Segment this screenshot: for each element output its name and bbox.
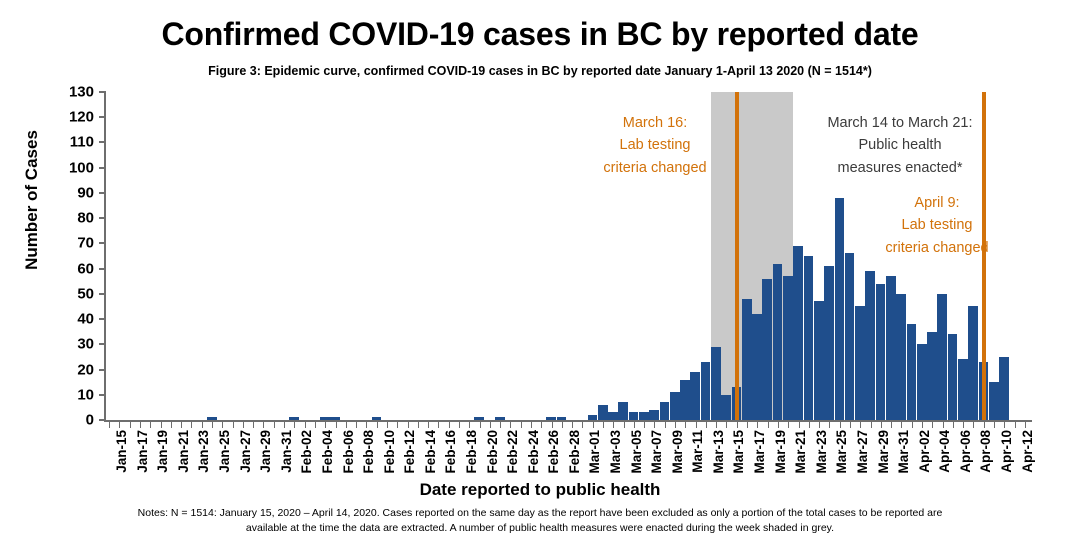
- x-tick-label: Mar-31: [896, 430, 911, 474]
- bar: [762, 279, 772, 420]
- x-tick-mark: [510, 422, 511, 428]
- bar: [814, 301, 824, 420]
- bar: [783, 276, 793, 420]
- x-tick-label: Mar-15: [731, 430, 746, 474]
- x-tick-label: Feb-22: [505, 430, 520, 474]
- x-tick-mark: [799, 422, 800, 428]
- x-tick-mark: [377, 422, 378, 428]
- x-tick-label: Feb-18: [464, 430, 479, 474]
- x-tick-mark: [665, 422, 666, 428]
- x-tick-label: Feb-16: [443, 430, 458, 474]
- x-tick-mark: [675, 422, 676, 428]
- x-tick-mark: [1025, 422, 1026, 428]
- x-tick-mark: [552, 422, 553, 428]
- y-tick-label: 90: [77, 184, 94, 201]
- x-tick-mark: [757, 422, 758, 428]
- x-tick-label: Mar-11: [690, 430, 705, 473]
- x-tick-mark: [418, 422, 419, 428]
- x-tick-mark: [284, 422, 285, 428]
- x-tick-label: Feb-26: [546, 430, 561, 474]
- bar: [958, 359, 968, 420]
- bar: [824, 266, 834, 420]
- x-tick-mark: [541, 422, 542, 428]
- x-tick-mark: [387, 422, 388, 428]
- y-tick-label: 70: [77, 235, 94, 252]
- y-tick-label: 110: [70, 134, 94, 151]
- x-tick-mark: [634, 422, 635, 428]
- x-tick-mark: [521, 422, 522, 428]
- bar: [680, 380, 690, 420]
- x-tick-mark: [706, 422, 707, 428]
- x-tick-mark: [243, 422, 244, 428]
- bar: [865, 271, 875, 420]
- x-tick-label: Jan-21: [176, 430, 191, 473]
- x-tick-mark: [840, 422, 841, 428]
- x-tick-label: Jan-19: [155, 430, 170, 473]
- x-tick-mark: [161, 422, 162, 428]
- bar: [989, 382, 999, 420]
- x-tick-mark: [819, 422, 820, 428]
- x-tick-label: Feb-10: [382, 430, 397, 474]
- bar: [608, 412, 618, 420]
- x-tick-mark: [181, 422, 182, 428]
- x-tick-label: Mar-17: [752, 430, 767, 474]
- bar: [660, 402, 670, 420]
- y-tick-label: 80: [77, 210, 94, 227]
- x-tick-mark: [109, 422, 110, 428]
- bar: [896, 294, 906, 420]
- x-tick-mark: [716, 422, 717, 428]
- x-tick-mark: [582, 422, 583, 428]
- bar: [629, 412, 639, 420]
- bar: [721, 395, 731, 420]
- x-tick-mark: [726, 422, 727, 428]
- x-tick-mark: [984, 422, 985, 428]
- y-tick-label: 40: [77, 311, 94, 328]
- x-tick-mark: [336, 422, 337, 428]
- x-tick-mark: [346, 422, 347, 428]
- x-tick-mark: [901, 422, 902, 428]
- x-tick-label: Mar-21: [793, 430, 808, 474]
- x-tick-mark: [490, 422, 491, 428]
- x-tick-mark: [613, 422, 614, 428]
- x-tick-mark: [222, 422, 223, 428]
- x-tick-label: Mar-25: [834, 430, 849, 474]
- page-title: Confirmed COVID-19 cases in BC by report…: [0, 16, 1080, 53]
- x-tick-mark: [366, 422, 367, 428]
- x-tick-mark: [469, 422, 470, 428]
- y-tick-label: 20: [77, 361, 94, 378]
- x-tick-label: Jan-29: [258, 430, 273, 473]
- bar: [917, 344, 927, 420]
- annotation-april9: April 9: Lab testing criteria changed: [842, 192, 1032, 259]
- x-tick-mark: [1004, 422, 1005, 428]
- bar: [927, 332, 937, 420]
- bar: [495, 417, 505, 420]
- bar: [701, 362, 711, 420]
- bar: [690, 372, 700, 420]
- bar: [711, 347, 721, 420]
- x-tick-mark: [233, 422, 234, 428]
- bar: [948, 334, 958, 420]
- x-tick-mark: [171, 422, 172, 428]
- x-tick-mark: [150, 422, 151, 428]
- bar: [649, 410, 659, 420]
- x-tick-label: Mar-07: [649, 430, 664, 474]
- x-tick-label: Apr-12: [1020, 430, 1035, 473]
- bar: [289, 417, 299, 420]
- bar: [330, 417, 340, 420]
- x-tick-mark: [881, 422, 882, 428]
- x-tick-mark: [912, 422, 913, 428]
- bar: [999, 357, 1009, 420]
- y-axis: Number of Cases 010203040506070809010011…: [0, 0, 104, 430]
- x-tick-mark: [809, 422, 810, 428]
- x-tick-label: Apr-10: [999, 430, 1014, 473]
- x-tick-mark: [119, 422, 120, 428]
- x-tick-label: Mar-05: [629, 430, 644, 474]
- x-tick-label: Jan-27: [238, 430, 253, 473]
- bar: [618, 402, 628, 420]
- x-tick-label: Apr-02: [917, 430, 932, 473]
- bar: [588, 415, 598, 420]
- x-tick-mark: [294, 422, 295, 428]
- bar: [907, 324, 917, 420]
- x-tick-label: Feb-08: [361, 430, 376, 474]
- bar: [372, 417, 382, 420]
- x-tick-mark: [953, 422, 954, 428]
- bar: [320, 417, 330, 420]
- x-tick-label: Feb-04: [320, 430, 335, 474]
- x-tick-label: Jan-23: [196, 430, 211, 473]
- y-axis-title: Number of Cases: [22, 50, 42, 350]
- bar: [557, 417, 567, 420]
- x-tick-mark: [654, 422, 655, 428]
- x-tick-mark: [449, 422, 450, 428]
- x-tick-mark: [191, 422, 192, 428]
- x-tick-mark: [1015, 422, 1016, 428]
- x-tick-label: Mar-27: [855, 430, 870, 474]
- x-tick-mark: [922, 422, 923, 428]
- figure-caption: Figure 3: Epidemic curve, confirmed COVI…: [0, 64, 1080, 78]
- x-tick-label: Jan-25: [217, 430, 232, 473]
- x-tick-mark: [274, 422, 275, 428]
- bar: [845, 253, 855, 420]
- x-tick-mark: [891, 422, 892, 428]
- x-tick-label: Feb-20: [485, 430, 500, 474]
- x-tick-mark: [778, 422, 779, 428]
- x-tick-mark: [500, 422, 501, 428]
- x-tick-mark: [994, 422, 995, 428]
- y-tick-label: 10: [77, 386, 94, 403]
- bar: [937, 294, 947, 420]
- bar: [876, 284, 886, 420]
- x-tick-label: Feb-12: [402, 430, 417, 474]
- x-tick-label: Jan-17: [135, 430, 150, 473]
- bar: [773, 264, 783, 420]
- x-tick-mark: [685, 422, 686, 428]
- x-tick-label: Apr-04: [937, 430, 952, 473]
- x-tick-mark: [696, 422, 697, 428]
- x-tick-label: Feb-06: [341, 430, 356, 474]
- x-tick-label: Feb-02: [299, 430, 314, 474]
- bar: [546, 417, 556, 420]
- x-tick-mark: [253, 422, 254, 428]
- x-tick-label: Feb-24: [526, 430, 541, 474]
- x-tick-mark: [428, 422, 429, 428]
- x-tick-label: Apr-06: [958, 430, 973, 473]
- bar: [598, 405, 608, 420]
- y-tick-label: 130: [69, 84, 94, 101]
- x-tick-label: Feb-14: [423, 430, 438, 474]
- x-axis-title: Date reported to public health: [0, 480, 1080, 500]
- bar: [639, 412, 649, 420]
- x-tick-mark: [963, 422, 964, 428]
- x-tick-mark: [408, 422, 409, 428]
- x-tick-label: Mar-09: [670, 430, 685, 474]
- y-tick-label: 100: [69, 159, 94, 176]
- x-tick-mark: [572, 422, 573, 428]
- x-tick-label: Mar-13: [711, 430, 726, 474]
- x-tick-label: Mar-19: [773, 430, 788, 474]
- x-tick-mark: [624, 422, 625, 428]
- annotation-march14-21: March 14 to March 21: Public health meas…: [780, 112, 1020, 179]
- bar: [886, 276, 896, 420]
- x-tick-mark: [459, 422, 460, 428]
- x-tick-mark: [871, 422, 872, 428]
- x-tick-mark: [562, 422, 563, 428]
- y-tick-label: 60: [77, 260, 94, 277]
- x-tick-mark: [325, 422, 326, 428]
- x-tick-label: Jan-31: [279, 430, 294, 473]
- x-tick-mark: [737, 422, 738, 428]
- bar: [968, 306, 978, 420]
- x-tick-mark: [973, 422, 974, 428]
- bar: [855, 306, 865, 420]
- bar: [670, 392, 680, 420]
- x-tick-label: Apr-08: [978, 430, 993, 473]
- x-tick-mark: [531, 422, 532, 428]
- x-tick-mark: [593, 422, 594, 428]
- bar: [793, 246, 803, 420]
- x-tick-mark: [644, 422, 645, 428]
- x-tick-mark: [130, 422, 131, 428]
- bar: [742, 299, 752, 420]
- x-tick-mark: [943, 422, 944, 428]
- x-tick-mark: [263, 422, 264, 428]
- x-tick-mark: [212, 422, 213, 428]
- x-tick-label: Mar-23: [814, 430, 829, 474]
- x-tick-mark: [438, 422, 439, 428]
- x-tick-mark: [397, 422, 398, 428]
- bar: [207, 417, 217, 420]
- x-tick-label: Feb-28: [567, 430, 582, 474]
- x-tick-mark: [305, 422, 306, 428]
- x-tick-mark: [603, 422, 604, 428]
- figure-notes: Notes: N = 1514: January 15, 2020 – Apri…: [130, 506, 950, 536]
- x-tick-mark: [356, 422, 357, 428]
- x-tick-mark: [315, 422, 316, 428]
- y-tick-label: 50: [77, 285, 94, 302]
- y-tick-label: 0: [86, 412, 94, 429]
- annotation-march16: March 16: Lab testing criteria changed: [560, 112, 750, 179]
- x-tick-mark: [860, 422, 861, 428]
- x-tick-mark: [480, 422, 481, 428]
- x-tick-mark: [747, 422, 748, 428]
- x-tick-label: Mar-03: [608, 430, 623, 474]
- x-tick-mark: [850, 422, 851, 428]
- x-tick-mark: [829, 422, 830, 428]
- bar: [474, 417, 484, 420]
- x-tick-label: Mar-01: [587, 430, 602, 474]
- x-tick-mark: [202, 422, 203, 428]
- x-tick-mark: [788, 422, 789, 428]
- bar: [804, 256, 814, 420]
- x-tick-mark: [140, 422, 141, 428]
- x-tick-mark: [932, 422, 933, 428]
- chart-page: Confirmed COVID-19 cases in BC by report…: [0, 0, 1080, 539]
- y-tick-label: 120: [69, 109, 94, 126]
- x-tick-label: Mar-29: [876, 430, 891, 474]
- bar: [752, 314, 762, 420]
- y-tick-label: 30: [77, 336, 94, 353]
- x-tick-mark: [768, 422, 769, 428]
- x-tick-label: Jan-15: [114, 430, 129, 473]
